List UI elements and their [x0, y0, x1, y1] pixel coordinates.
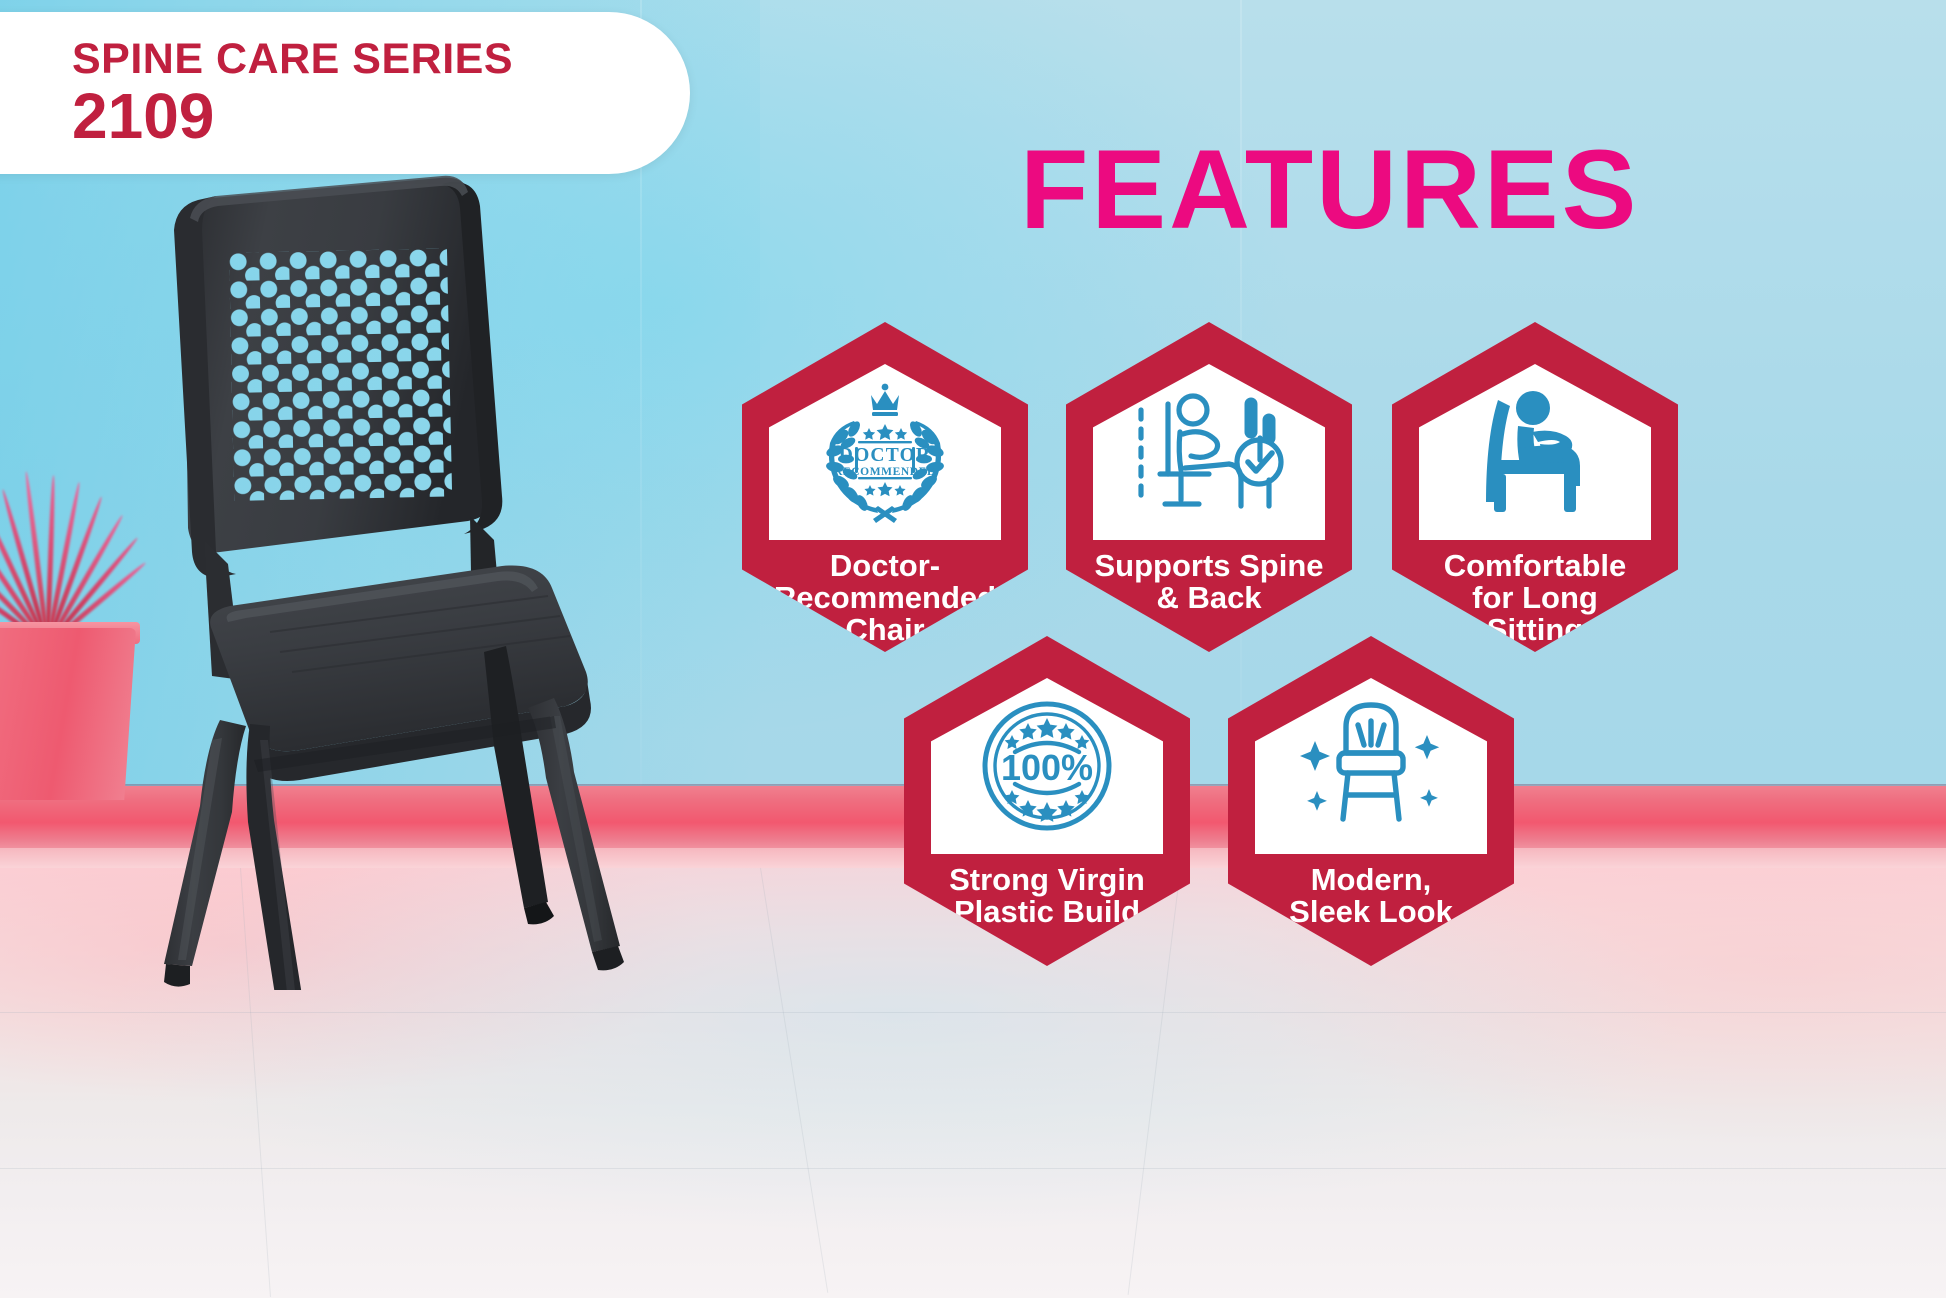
badge-icon-frame: DOCTOR RECOMMENDED — [769, 364, 1001, 540]
badge-icon-frame — [1419, 364, 1651, 540]
series-label: SPINE CARE SERIES — [72, 38, 690, 82]
black-plastic-chair — [150, 160, 670, 990]
badge-icon-frame — [1093, 364, 1325, 540]
seal-subtitle: RECOMMENDED — [834, 466, 936, 478]
model-number: 2109 — [72, 84, 690, 148]
seal-title: DOCTOR — [839, 445, 931, 466]
plant-pot — [0, 628, 136, 800]
floor-tile-line — [0, 1168, 1946, 1169]
hundred-percent-stamp-icon: 100% — [971, 690, 1123, 842]
person-sitting-spine-check-icon — [1123, 382, 1295, 522]
badge-icon-frame — [1255, 678, 1487, 854]
badge-icon-frame: 100% — [931, 678, 1163, 854]
floor-tile-line — [0, 1012, 1946, 1013]
doctor-recommended-seal-icon: DOCTOR RECOMMENDED — [796, 377, 974, 527]
stamp-value: 100% — [1001, 747, 1093, 788]
sparkling-chair-icon — [1291, 691, 1451, 841]
pampas-grass-icon — [0, 470, 150, 645]
product-feature-banner: SPINE CARE SERIES 2109 FEATURES — [0, 0, 1946, 1298]
person-seated-silhouette-icon — [1460, 382, 1610, 522]
features-heading: FEATURES — [1020, 134, 1639, 246]
series-banner: SPINE CARE SERIES 2109 — [0, 12, 690, 174]
